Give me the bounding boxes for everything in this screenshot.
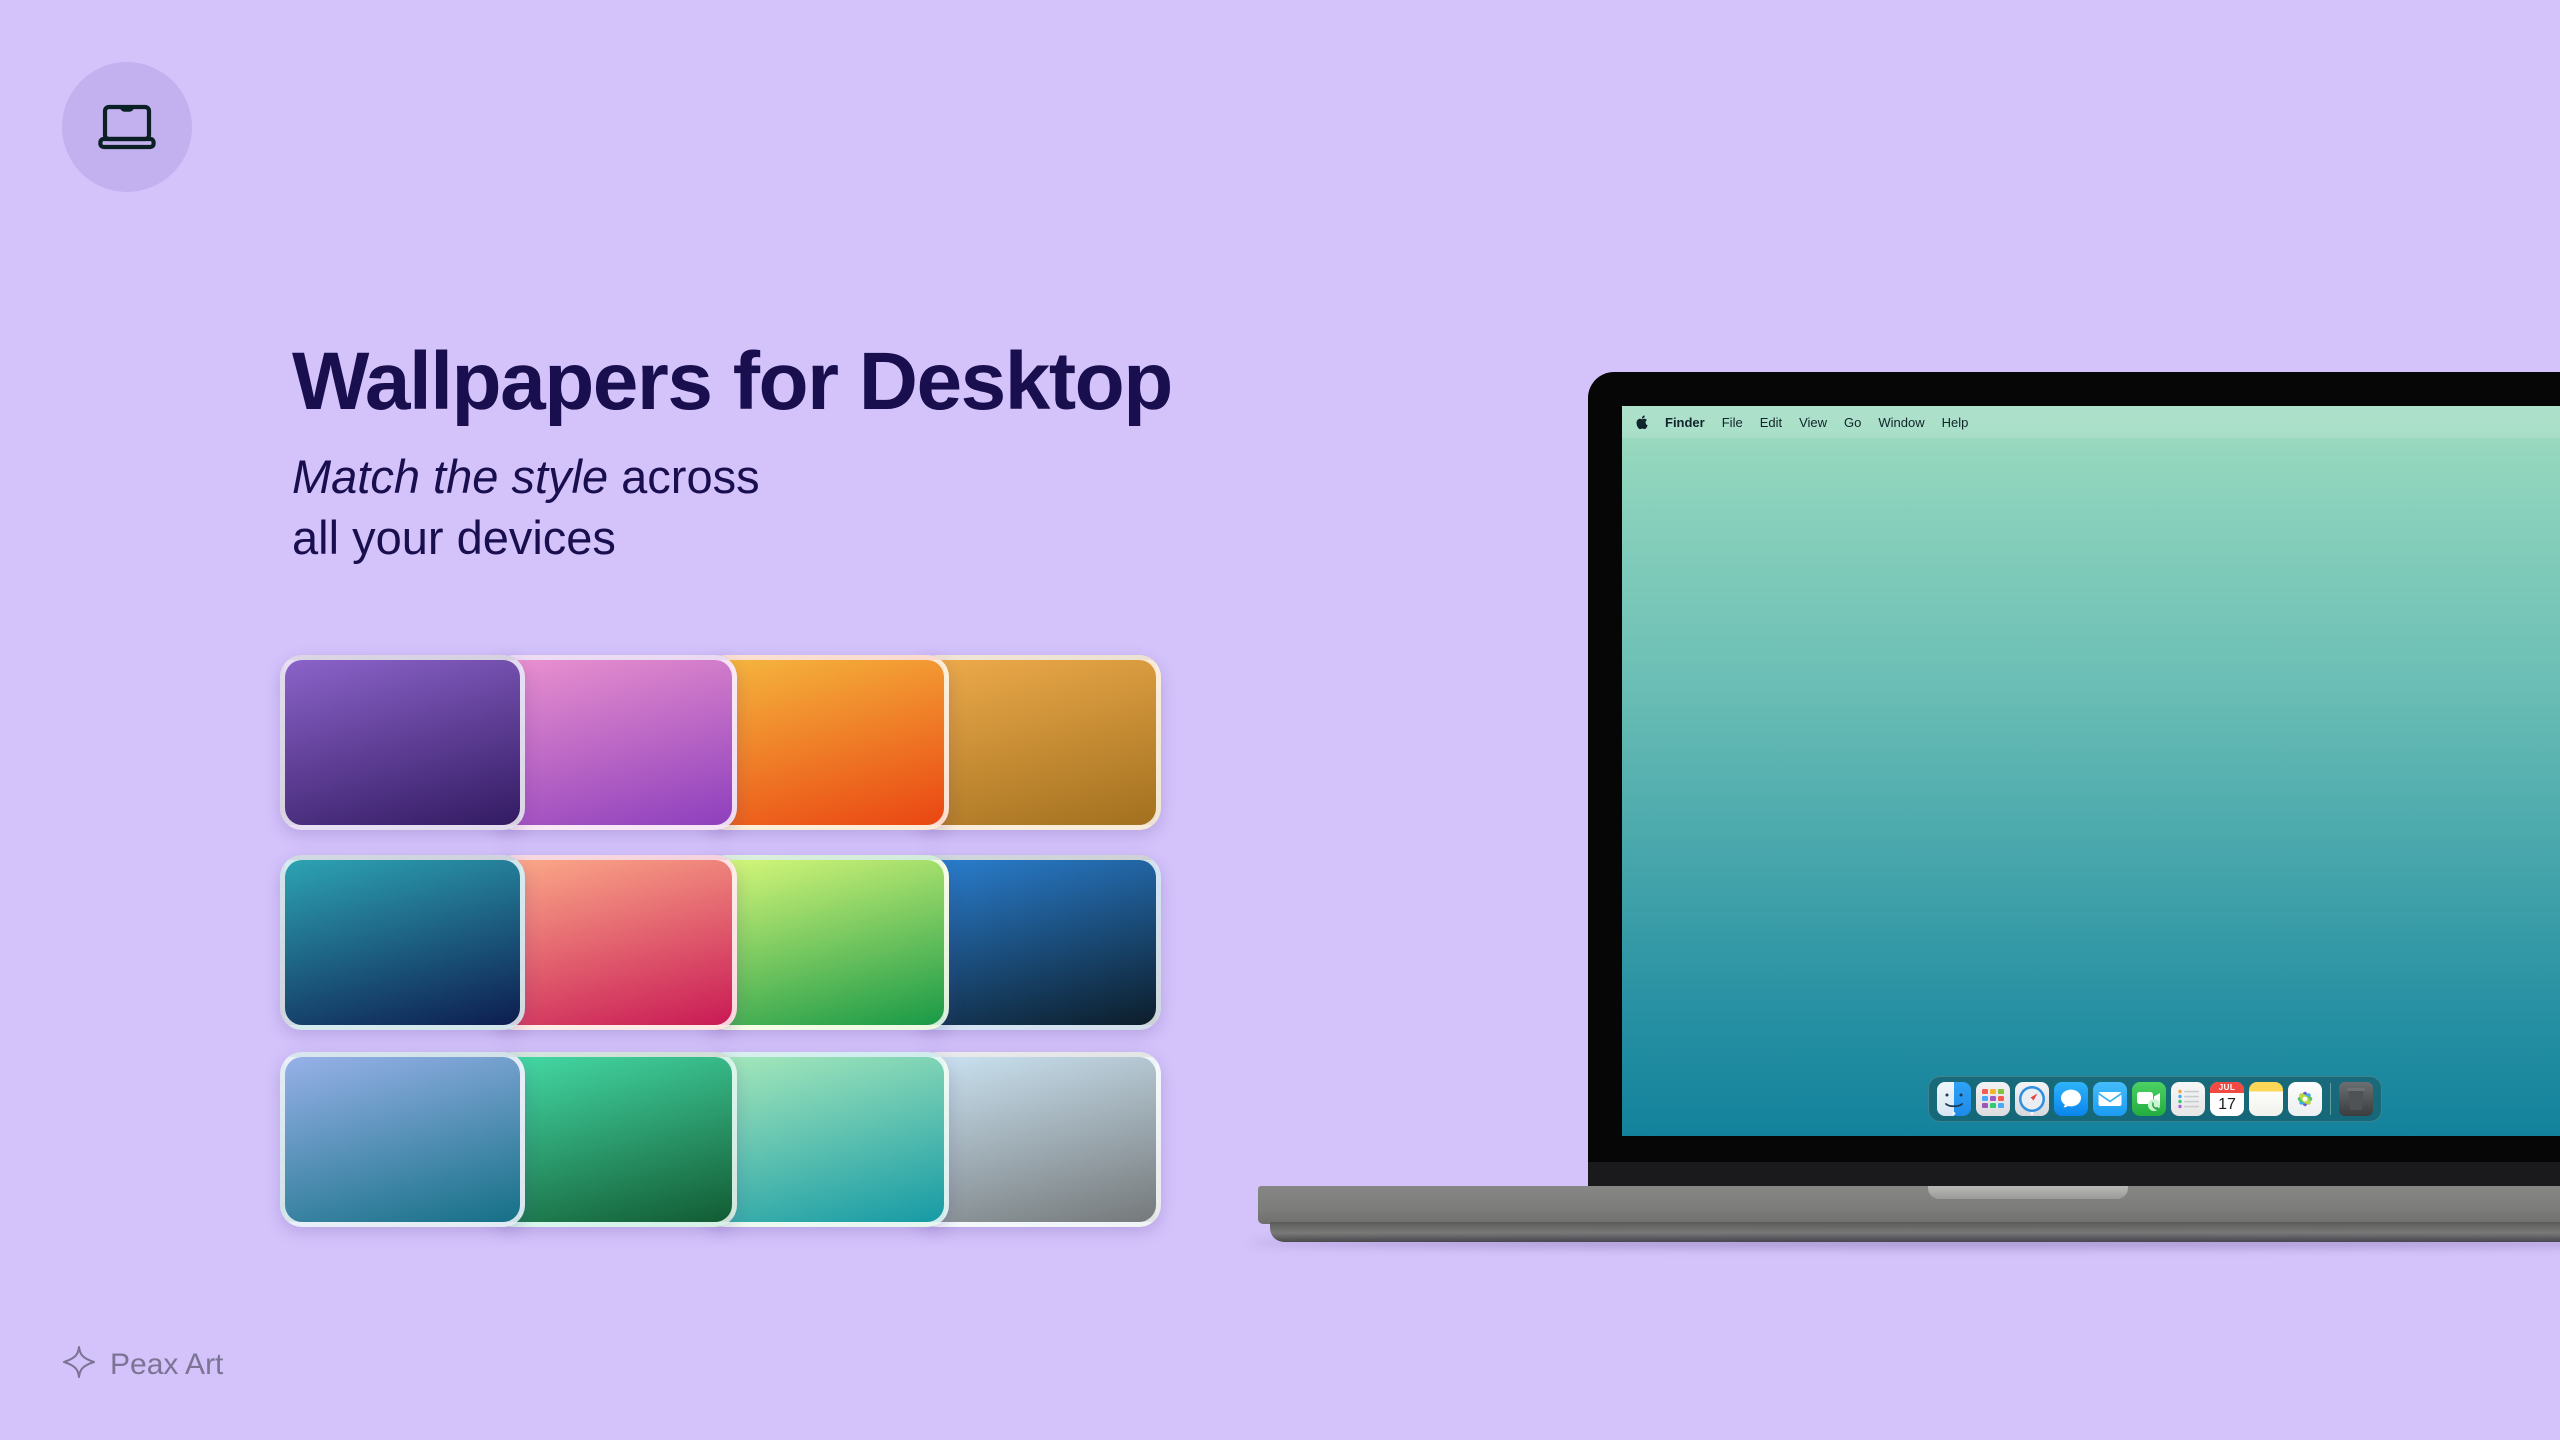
subtitle-rest: across: [608, 450, 760, 503]
menu-item-edit[interactable]: Edit: [1760, 415, 1782, 430]
laptop-badge: [62, 62, 192, 192]
menu-bar: Finder File Edit View Go Window Help: [1622, 406, 2560, 438]
swatch-row: [280, 655, 1160, 830]
macbook-lid: Finder File Edit View Go Window Help: [1588, 372, 2560, 1162]
dock: JUL 17: [1928, 1076, 2382, 1122]
macbook-lid-notch: [1928, 1186, 2128, 1199]
wallpaper-swatch[interactable]: [704, 655, 949, 830]
sparkle-icon: [62, 1345, 96, 1384]
wallpaper-swatch[interactable]: [492, 855, 737, 1030]
swatch-row: [280, 1052, 1160, 1227]
headline-block: Wallpapers for Desktop Match the style a…: [292, 340, 1392, 568]
menu-item-view[interactable]: View: [1799, 415, 1827, 430]
menu-item-help[interactable]: Help: [1942, 415, 1969, 430]
trash-icon[interactable]: [2339, 1082, 2373, 1116]
subtitle-emphasis: Match the style: [292, 450, 608, 503]
messages-icon[interactable]: [2054, 1082, 2088, 1116]
wallpaper-swatch[interactable]: [704, 1052, 949, 1227]
calendar-icon[interactable]: JUL 17: [2210, 1082, 2244, 1116]
wallpaper-swatch[interactable]: [492, 655, 737, 830]
reminders-icon[interactable]: [2171, 1082, 2205, 1116]
page-title: Wallpapers for Desktop: [292, 340, 1392, 424]
calendar-month: JUL: [2210, 1082, 2244, 1093]
watermark: Peax Art: [62, 1345, 223, 1384]
wallpaper-swatch[interactable]: [280, 855, 525, 1030]
calendar-day: 17: [2210, 1093, 2244, 1116]
menu-item-file[interactable]: File: [1722, 415, 1743, 430]
facetime-icon[interactable]: [2132, 1082, 2166, 1116]
photos-icon[interactable]: [2288, 1082, 2322, 1116]
macbook-base: [1258, 1186, 2560, 1224]
macbook-shadow: [1248, 1238, 2560, 1248]
wallpaper-swatch[interactable]: [916, 655, 1161, 830]
menu-item-window[interactable]: Window: [1878, 415, 1924, 430]
menu-item-go[interactable]: Go: [1844, 415, 1861, 430]
macbook-hinge: [1588, 1162, 2560, 1186]
wallpaper-swatch[interactable]: [280, 1052, 525, 1227]
menu-item-finder[interactable]: Finder: [1665, 415, 1705, 430]
macbook-screen: Finder File Edit View Go Window Help: [1622, 406, 2560, 1136]
subtitle-line-two: all your devices: [292, 511, 616, 564]
wallpaper-swatch-grid: [280, 655, 1160, 1255]
laptop-icon: [98, 104, 156, 150]
swatch-row: [280, 855, 1160, 1030]
notes-icon[interactable]: [2249, 1082, 2283, 1116]
dock-separator: [2330, 1083, 2331, 1115]
apple-logo-icon[interactable]: [1636, 415, 1648, 429]
mail-icon[interactable]: [2093, 1082, 2127, 1116]
wallpaper-swatch[interactable]: [492, 1052, 737, 1227]
finder-icon[interactable]: [1937, 1082, 1971, 1116]
wallpaper-swatch[interactable]: [280, 655, 525, 830]
safari-icon[interactable]: [2015, 1082, 2049, 1116]
page-subtitle: Match the style across all your devices: [292, 446, 1392, 568]
wallpaper-swatch[interactable]: [704, 855, 949, 1030]
macbook-mockup: Finder File Edit View Go Window Help: [1588, 372, 2560, 1186]
watermark-label: Peax Art: [110, 1348, 223, 1382]
wallpaper-swatch[interactable]: [916, 855, 1161, 1030]
wallpaper-swatch[interactable]: [916, 1052, 1161, 1227]
launchpad-icon[interactable]: [1976, 1082, 2010, 1116]
